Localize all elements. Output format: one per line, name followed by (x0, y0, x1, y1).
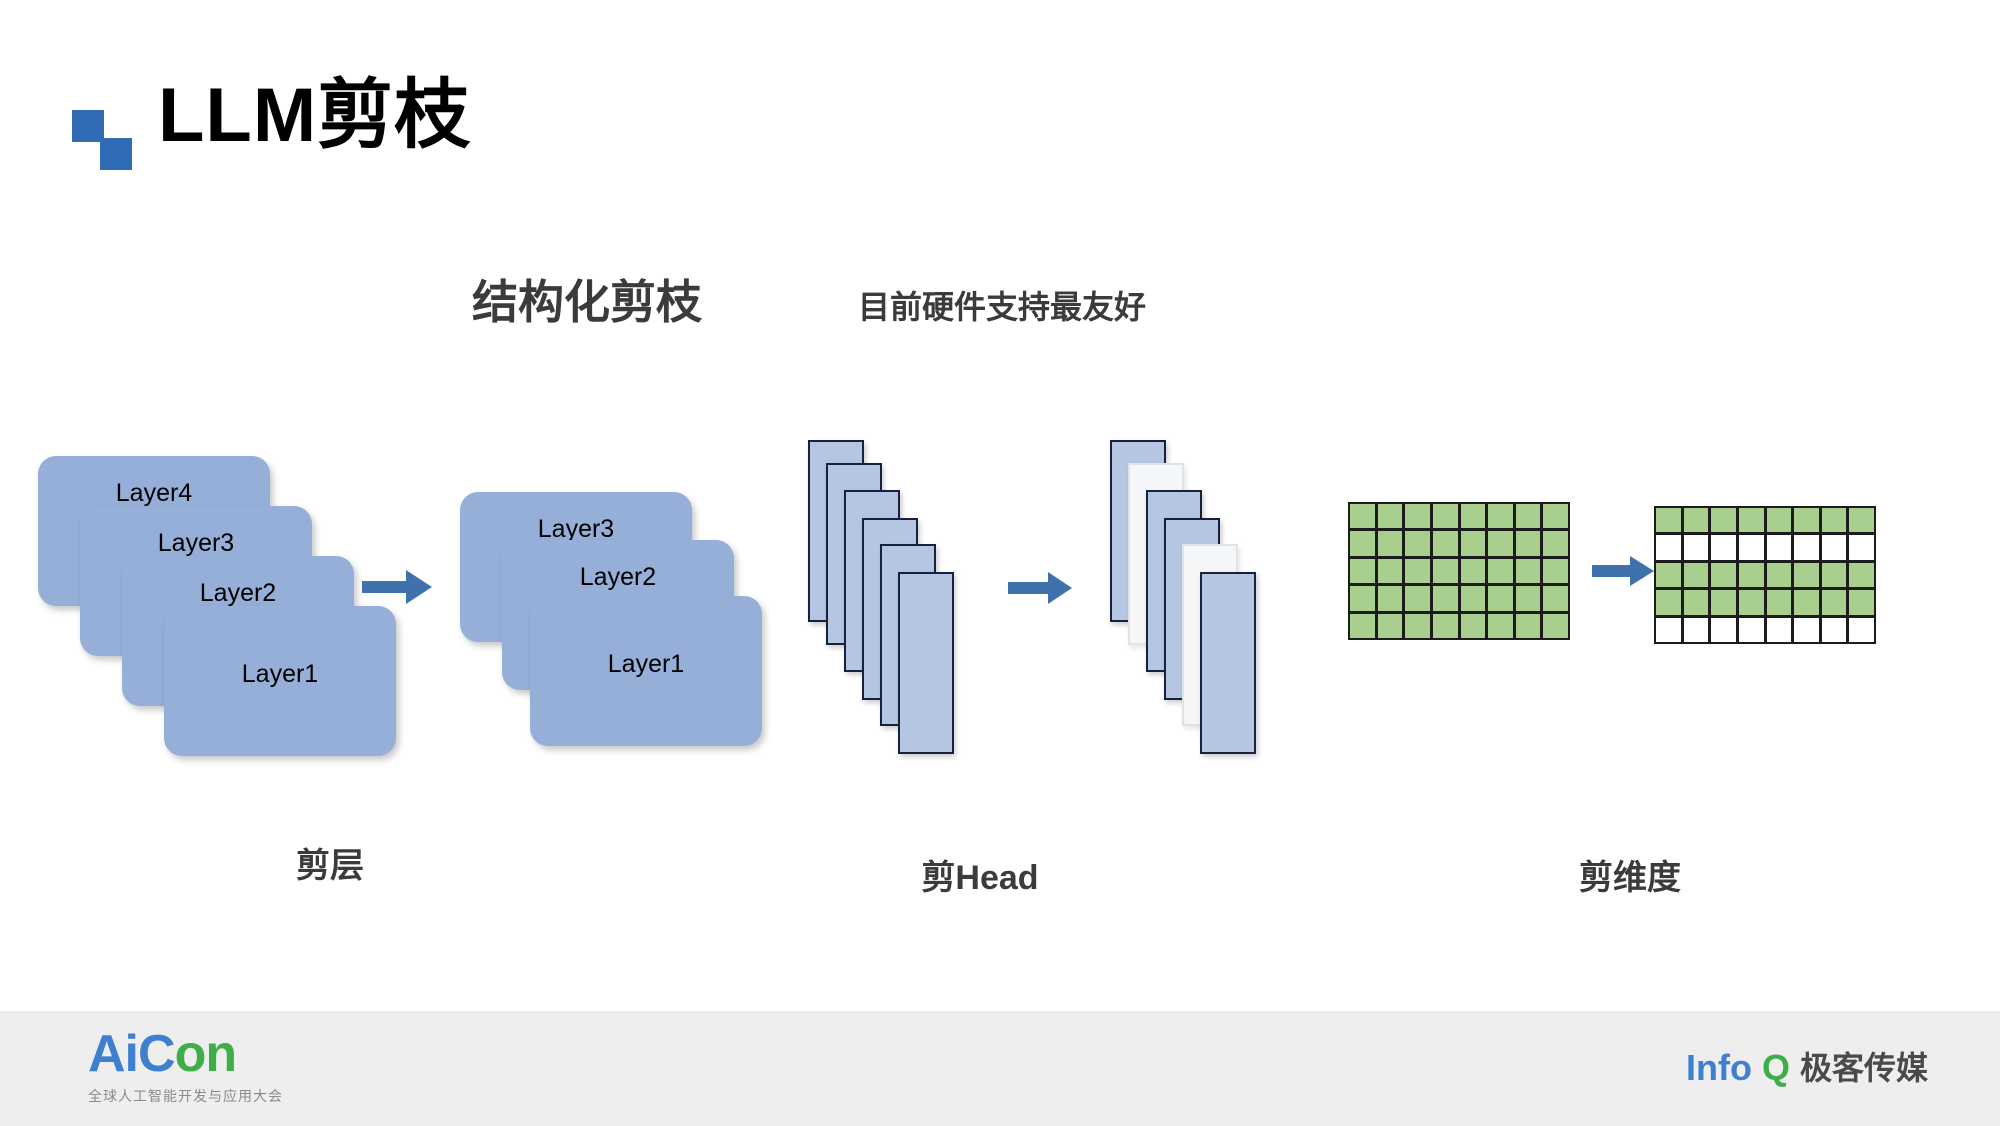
section-note: 目前硬件支持最友好 (858, 282, 1146, 328)
matrix-before-cell (1378, 586, 1403, 610)
matrix-after-cell (1767, 535, 1792, 559)
matrix-before-cell (1543, 586, 1568, 610)
layer-card-after-1: Layer1 (530, 596, 762, 746)
matrix-after-cell (1794, 590, 1819, 614)
infoq-word-info: Info (1686, 1050, 1752, 1086)
matrix-before-cell (1516, 614, 1541, 638)
matrix-before-cell (1378, 531, 1403, 555)
matrix-after-cell (1822, 563, 1847, 587)
matrix-before-cell (1433, 559, 1458, 583)
matrix-after-cell (1739, 535, 1764, 559)
panel-caption-prune-head: 剪Head (880, 850, 1080, 899)
matrix-before-cell (1378, 614, 1403, 638)
matrix-before-cell (1488, 531, 1513, 555)
layer-card-label: Layer3 (80, 529, 312, 558)
matrix-after-cell (1684, 535, 1709, 559)
panel-caption-prune-layer: 剪层 (250, 838, 410, 887)
right-arrow-icon (1592, 556, 1654, 586)
matrix-after-cell (1822, 508, 1847, 532)
matrix-after-cell (1822, 618, 1847, 642)
matrix-before-cell (1543, 559, 1568, 583)
matrix-after-cell (1849, 590, 1874, 614)
matrix-after-cell (1849, 508, 1874, 532)
matrix-after-cell (1684, 618, 1709, 642)
aicon-logo: AiCon 全球人工智能开发与应用大会 (88, 1028, 283, 1106)
infoq-logo: Info Q 极客传媒 (1686, 1050, 1928, 1086)
matrix-before-cell (1488, 504, 1513, 528)
matrix-after-cell (1794, 618, 1819, 642)
matrix-before-cell (1488, 559, 1513, 583)
matrix-after-cell (1684, 563, 1709, 587)
matrix-before-cell (1433, 614, 1458, 638)
matrix-after-cell (1711, 508, 1736, 532)
matrix-before-cell (1350, 504, 1375, 528)
matrix-after-cell (1711, 535, 1736, 559)
page-title: LLM剪枝 (158, 78, 471, 154)
matrix-after-cell (1684, 508, 1709, 532)
matrix-before (1348, 502, 1570, 640)
matrix-after-cell (1849, 618, 1874, 642)
matrix-after-cell (1794, 563, 1819, 587)
layer-card-label: Layer4 (38, 479, 270, 508)
matrix-after (1654, 506, 1876, 644)
matrix-before-cell (1405, 531, 1430, 555)
head-slab-after-6 (1200, 572, 1256, 754)
matrix-after-cell (1656, 618, 1681, 642)
right-arrow-icon (362, 570, 432, 604)
matrix-after-cell (1711, 563, 1736, 587)
layer-card-label: Layer1 (164, 660, 396, 689)
matrix-after-cell (1739, 563, 1764, 587)
matrix-after-cell (1767, 508, 1792, 532)
matrix-after-cell (1739, 508, 1764, 532)
matrix-before-cell (1461, 559, 1486, 583)
head-slab-before-6 (898, 572, 954, 754)
matrix-after-cell (1822, 590, 1847, 614)
matrix-after-cell (1849, 563, 1874, 587)
matrix-before-cell (1516, 559, 1541, 583)
matrix-after-cell (1849, 535, 1874, 559)
matrix-after-cell (1767, 618, 1792, 642)
matrix-after-cell (1822, 535, 1847, 559)
matrix-before-cell (1433, 504, 1458, 528)
matrix-after-cell (1767, 563, 1792, 587)
matrix-before-cell (1350, 531, 1375, 555)
infoq-word-cn: 极客传媒 (1800, 1052, 1928, 1084)
layer-card-label: Layer2 (122, 579, 354, 608)
matrix-after-cell (1794, 508, 1819, 532)
matrix-before-cell (1350, 559, 1375, 583)
matrix-before-cell (1378, 504, 1403, 528)
matrix-before-cell (1461, 504, 1486, 528)
layer-card-label: Layer2 (502, 563, 734, 592)
section-heading: 结构化剪枝 (472, 266, 702, 332)
logo-square-bottom (100, 138, 132, 170)
matrix-before-cell (1543, 614, 1568, 638)
matrix-before-cell (1543, 504, 1568, 528)
matrix-after-cell (1739, 618, 1764, 642)
matrix-before-cell (1516, 504, 1541, 528)
aicon-word-b: on (175, 1025, 237, 1083)
matrix-before-cell (1543, 531, 1568, 555)
matrix-after-cell (1656, 508, 1681, 532)
aicon-tagline: 全球人工智能开发与应用大会 (88, 1086, 283, 1106)
panel-caption-prune-dim: 剪维度 (1530, 850, 1730, 899)
matrix-after-cell (1711, 590, 1736, 614)
matrix-before-cell (1433, 586, 1458, 610)
infoq-word-q: Q (1762, 1050, 1790, 1086)
matrix-before-cell (1516, 586, 1541, 610)
matrix-before-cell (1405, 586, 1430, 610)
matrix-before-cell (1433, 531, 1458, 555)
aicon-word-a: AiC (88, 1025, 175, 1083)
matrix-after-cell (1739, 590, 1764, 614)
matrix-after-cell (1684, 590, 1709, 614)
matrix-after-cell (1656, 535, 1681, 559)
right-arrow-icon (1008, 572, 1072, 604)
matrix-before-cell (1350, 614, 1375, 638)
matrix-before-cell (1516, 531, 1541, 555)
matrix-after-cell (1794, 535, 1819, 559)
slide-canvas: LLM剪枝 结构化剪枝 目前硬件支持最友好 Layer4 Layer3 Laye… (0, 0, 2000, 1126)
matrix-before-cell (1350, 586, 1375, 610)
matrix-before-cell (1488, 586, 1513, 610)
matrix-after-cell (1711, 618, 1736, 642)
matrix-before-cell (1488, 614, 1513, 638)
matrix-before-cell (1461, 614, 1486, 638)
matrix-after-cell (1767, 590, 1792, 614)
layer-card-label: Layer1 (530, 650, 762, 679)
layer-card-before-1: Layer1 (164, 606, 396, 756)
aicon-wordmark: AiCon (88, 1028, 283, 1080)
matrix-before-cell (1461, 531, 1486, 555)
matrix-before-cell (1405, 504, 1430, 528)
matrix-before-cell (1461, 586, 1486, 610)
matrix-after-cell (1656, 590, 1681, 614)
matrix-after-cell (1656, 563, 1681, 587)
matrix-before-cell (1378, 559, 1403, 583)
matrix-before-cell (1405, 614, 1430, 638)
two-squares-icon (72, 110, 132, 170)
matrix-before-cell (1405, 559, 1430, 583)
